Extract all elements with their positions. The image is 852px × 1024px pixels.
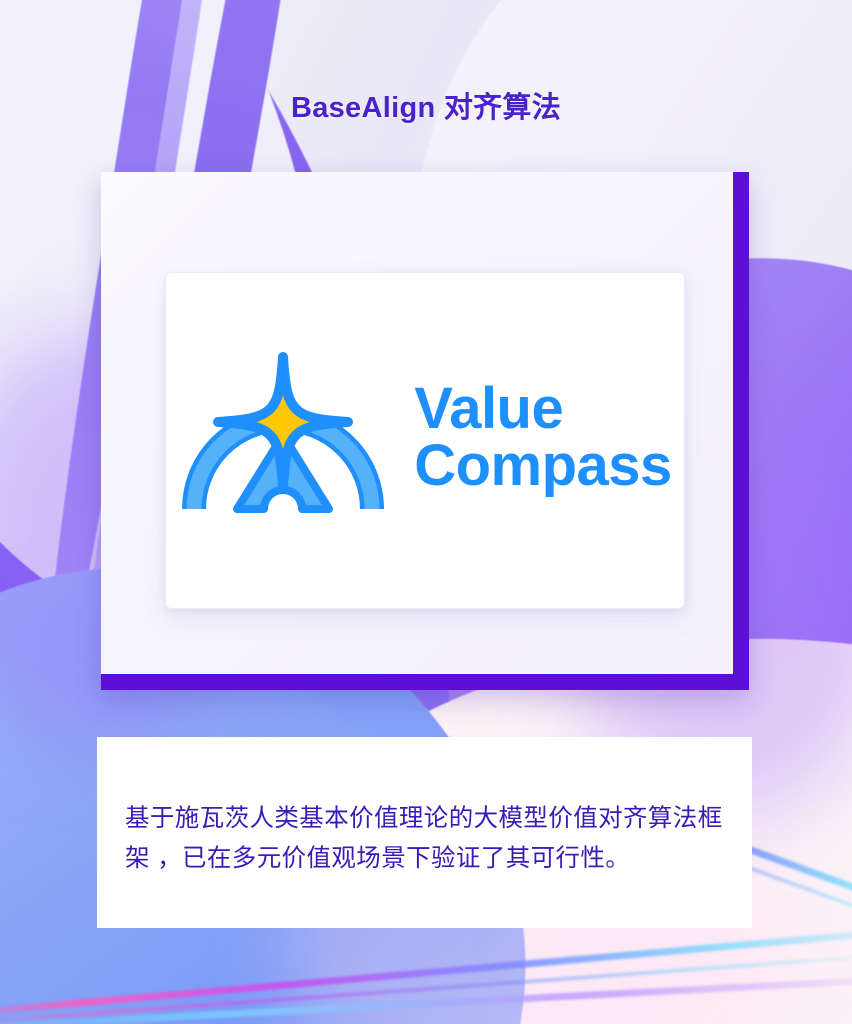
logo-card-inner: Value Compass (101, 172, 733, 674)
logo-word-value: Value (414, 381, 672, 438)
poster-root: BaseAlign 对齐算法 Value Compass (0, 0, 852, 1024)
value-compass-logo-icon (178, 351, 388, 531)
logo-card-frame: Value Compass (101, 172, 749, 690)
page-title: BaseAlign 对齐算法 (0, 84, 852, 126)
caption-text: 基于施瓦茨人类基本价值理论的大模型价值对齐算法框架 ，已在多元价值观场景下验证了… (125, 799, 728, 878)
logo-panel: Value Compass (165, 272, 685, 609)
caption-box: 基于施瓦茨人类基本价值理论的大模型价值对齐算法框架 ，已在多元价值观场景下验证了… (97, 737, 752, 928)
logo-word-compass: Compass (414, 438, 672, 495)
logo-wordmark: Value Compass (414, 381, 672, 501)
